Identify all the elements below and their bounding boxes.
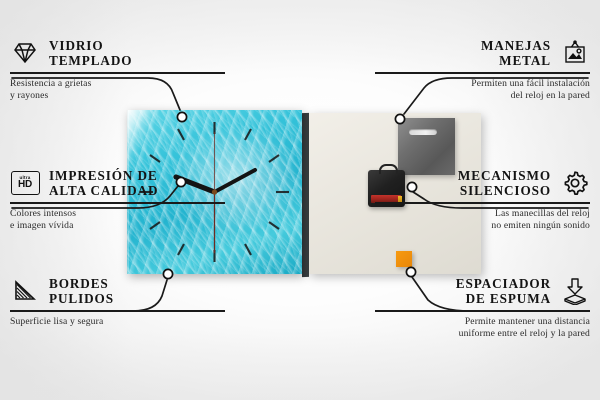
- feature-spacer-title: ESPACIADOR DE ESPUMA: [456, 276, 551, 306]
- polished-edge-icon: [10, 276, 40, 306]
- feature-print-head: ultra HD IMPRESIÓN DE ALTA CALIDAD: [10, 168, 225, 198]
- feature-edges-rule: [10, 310, 225, 312]
- feature-edges-head: BORDES PULIDOS: [10, 276, 225, 306]
- feature-mechanism-head: MECANISMO SILENCIOSO: [375, 168, 590, 198]
- feature-glass-rule: [10, 72, 225, 74]
- ultra-hd-icon: ultra HD: [10, 168, 40, 198]
- hanger-slot: [409, 129, 437, 135]
- feature-print-subtitle: Colores intensos e imagen vívida: [10, 208, 225, 233]
- feature-glass-title: VIDRIO TEMPLADO: [49, 38, 132, 68]
- feature-mechanism-rule: [375, 202, 590, 204]
- feature-mechanism-subtitle: Las manecillas del reloj no emiten ningú…: [375, 208, 590, 233]
- feature-glass: VIDRIO TEMPLADO Resistencia a grietas y …: [10, 38, 225, 103]
- feature-handles-title: MANEJAS METAL: [481, 38, 551, 68]
- feature-print-rule: [10, 202, 225, 204]
- gear-icon: [560, 168, 590, 198]
- clock-glass-edge: [302, 113, 309, 277]
- feature-handles-subtitle: Permiten una fácil instalación del reloj…: [375, 78, 590, 103]
- feature-spacer-subtitle: Permite mantener una distancia uniforme …: [375, 316, 590, 341]
- feature-spacer-rule: [375, 310, 590, 312]
- feature-handles-head: MANEJAS METAL: [375, 38, 590, 68]
- feature-mechanism-title: MECANISMO SILENCIOSO: [458, 168, 551, 198]
- feature-mechanism: MECANISMO SILENCIOSO Las manecillas del …: [375, 168, 590, 233]
- foam-spacer: [396, 251, 412, 267]
- metal-hanger-plate: [398, 118, 455, 175]
- hd-badge-big-text: HD: [18, 180, 32, 190]
- feature-handles-rule: [375, 72, 590, 74]
- feature-edges-title: BORDES PULIDOS: [49, 276, 114, 306]
- hanging-frame-icon: [560, 38, 590, 68]
- feature-handles: MANEJAS METAL Permiten una fácil instala…: [375, 38, 590, 103]
- feature-glass-head: VIDRIO TEMPLADO: [10, 38, 225, 68]
- feature-glass-subtitle: Resistencia a grietas y rayones: [10, 78, 225, 103]
- foam-spacer-icon: [560, 276, 590, 306]
- feature-spacer-head: ESPACIADOR DE ESPUMA: [375, 276, 590, 306]
- feature-edges-subtitle: Superficie lisa y segura: [10, 316, 225, 329]
- feature-edges: BORDES PULIDOS Superficie lisa y segura: [10, 276, 225, 328]
- feature-print-title: IMPRESIÓN DE ALTA CALIDAD: [49, 168, 158, 198]
- feature-spacer: ESPACIADOR DE ESPUMA Permite mantener un…: [375, 276, 590, 341]
- diamond-icon: [10, 38, 40, 68]
- infographic-canvas: VIDRIO TEMPLADO Resistencia a grietas y …: [0, 0, 600, 400]
- feature-print: ultra HD IMPRESIÓN DE ALTA CALIDAD Color…: [10, 168, 225, 233]
